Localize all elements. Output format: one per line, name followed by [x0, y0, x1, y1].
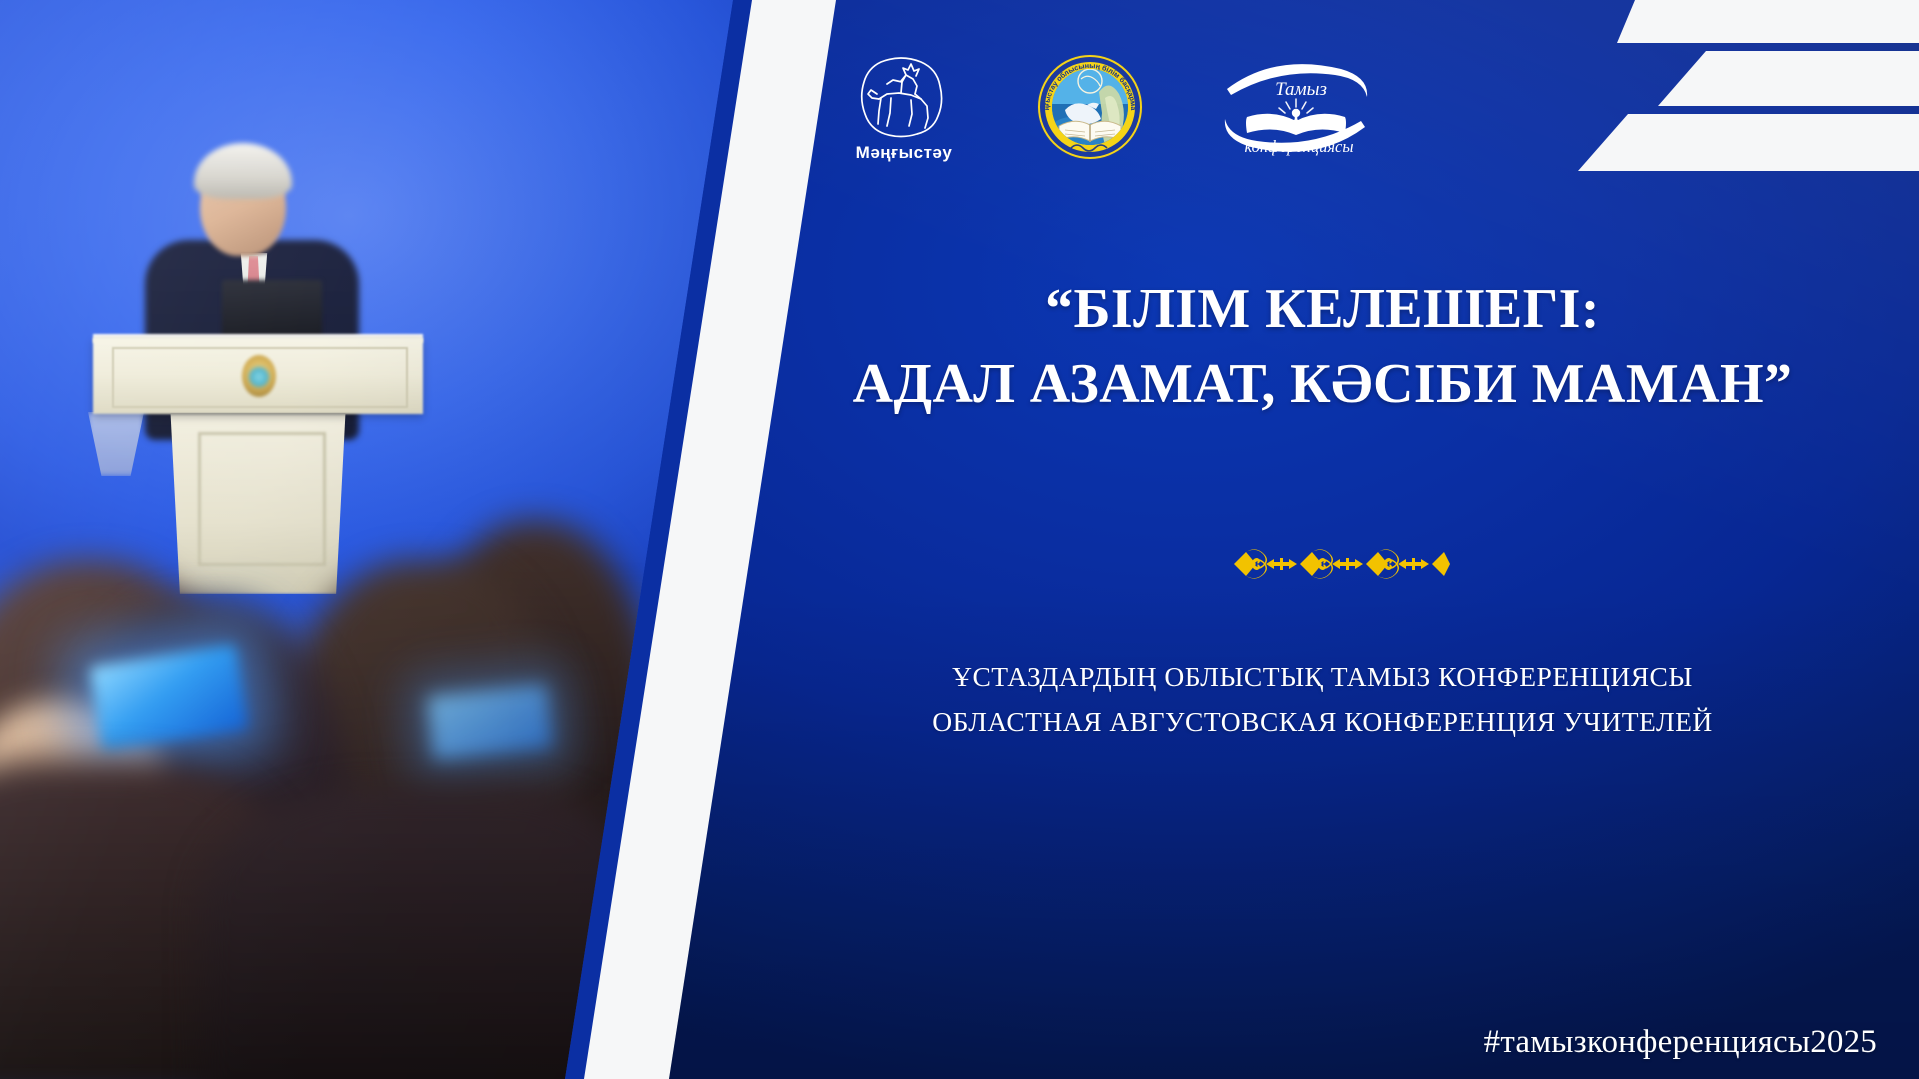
page-title: “БІЛІМ КЕЛЕШЕГІ: АДАЛ АЗАМАТ, КӘСІБИ МАМ… — [780, 272, 1865, 422]
logo-row: Мәңғыстәу — [845, 48, 1445, 166]
svg-text:конференциясы: конференциясы — [1245, 137, 1354, 156]
title-line-1: “БІЛІМ КЕЛЕШЕГІ: — [780, 272, 1865, 347]
svg-text:Тамыз: Тамыз — [1275, 79, 1327, 100]
subtitle-ru: ОБЛАСТНАЯ АВГУСТОВСКАЯ КОНФЕРЕНЦИЯ УЧИТЕ… — [760, 700, 1885, 745]
tamyz-conference-logo: Тамыз конференциясы — [1217, 55, 1375, 159]
kazakh-ornament-divider — [1232, 546, 1452, 582]
hashtag: #тамызконференциясы2025 — [1484, 1024, 1877, 1061]
title-line-2: АДАЛ АЗАМАТ, КӘСІБИ МАМАН” — [780, 347, 1865, 422]
banner-canvas: Мәңғыстәу — [0, 0, 1919, 1079]
corner-stripe-1 — [1617, 0, 1919, 43]
subtitle-kk: ҰСТАЗДАРДЫҢ ОБЛЫСТЫҚ ТАМЫЗ КОНФЕРЕНЦИЯСЫ — [760, 655, 1885, 700]
mangystau-region-logo: Мәңғыстәу — [845, 48, 963, 166]
corner-stripe-3 — [1578, 114, 1919, 171]
mangystau-education-department-logo: Маңғыстау облысының білім басқармасы — [1035, 52, 1145, 162]
svg-text:Мәңғыстәу: Мәңғыстәу — [856, 143, 953, 162]
subtitle: ҰСТАЗДАРДЫҢ ОБЛЫСТЫҚ ТАМЫЗ КОНФЕРЕНЦИЯСЫ… — [760, 655, 1885, 744]
